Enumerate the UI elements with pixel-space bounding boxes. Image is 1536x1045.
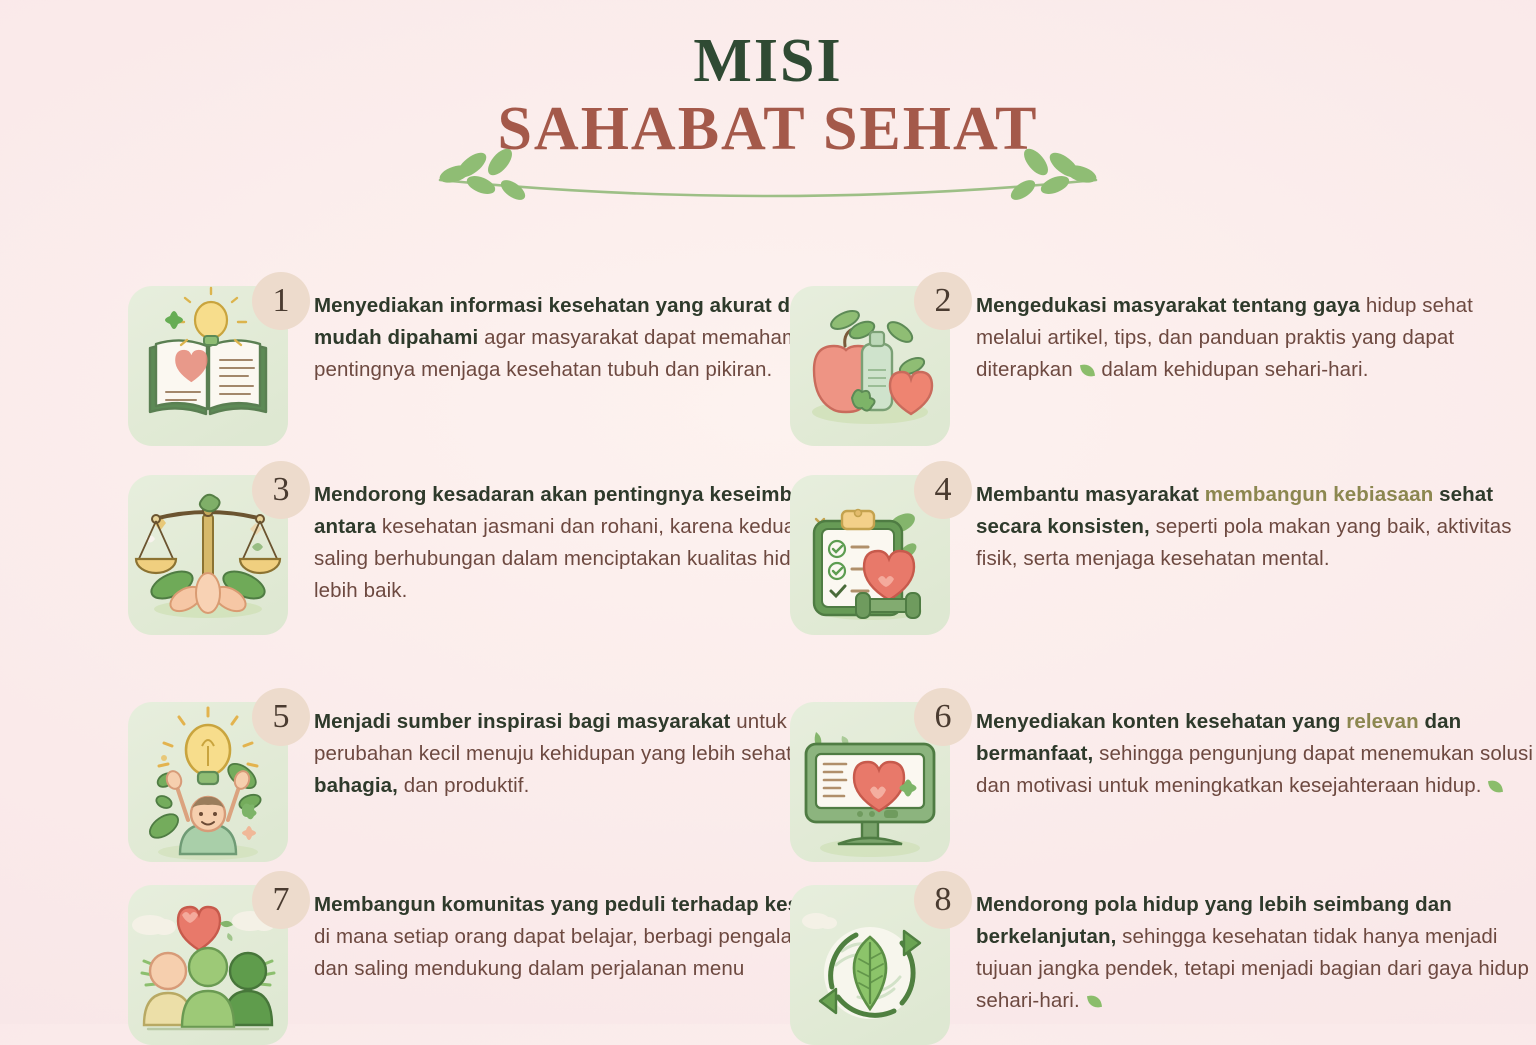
card-text: Menyediakan konten kesehatan yang releva… <box>976 706 1536 802</box>
leaf-glyph-icon <box>1488 779 1503 794</box>
card-text: Mendorong pola hidup yang lebih seimbang… <box>976 889 1536 1017</box>
page-title-primary: MISI <box>0 30 1536 92</box>
card-text-bold: Menyediakan konten kesehatan yang <box>976 710 1340 733</box>
card-number-badge: 3 <box>252 461 310 519</box>
card-number-badge: 5 <box>252 688 310 746</box>
card-text-accent: relevan <box>1340 710 1418 733</box>
card-number-badge: 7 <box>252 871 310 929</box>
mission-cards-grid: 1 Menyediakan informasi kesehatan yang a… <box>0 258 1536 1024</box>
card-text-bold: Mengedukasi masyarakat tentang gaya <box>976 294 1360 317</box>
card-text-rest: kesehatan jasmani dan rohani, karena ked… <box>314 515 864 602</box>
card-text-rest-2: dan produktif. <box>398 774 529 797</box>
card-number-badge: 2 <box>914 272 972 330</box>
leaf-glyph-icon <box>1087 994 1102 1009</box>
card-text-rest: di mana setiap orang dapat belajar, berb… <box>314 925 838 980</box>
card-text-bold: Menjadi sumber inspirasi bagi masyarakat <box>314 710 730 733</box>
leaf-glyph-icon <box>1080 363 1095 378</box>
card-text-bold: Membantu masyarakat <box>976 483 1199 506</box>
card-text: Membantu masyarakat membangun kebiasaan … <box>976 479 1536 575</box>
card-text-accent: membangun kebiasaan <box>1199 483 1433 506</box>
card-text-bold: Membangun komunitas yang peduli terhadap… <box>314 893 872 916</box>
card-text: Mengedukasi masyarakat tentang gaya hidu… <box>976 290 1536 386</box>
card-number-badge: 1 <box>252 272 310 330</box>
card-text-bold-2: bahagia, <box>314 774 398 797</box>
page-title-secondary: SAHABAT SEHAT <box>0 98 1536 160</box>
header: MISI SAHABAT SEHAT <box>0 0 1536 230</box>
card-number-badge: 6 <box>914 688 972 746</box>
card-number-badge: 4 <box>914 461 972 519</box>
card-number-badge: 8 <box>914 871 972 929</box>
